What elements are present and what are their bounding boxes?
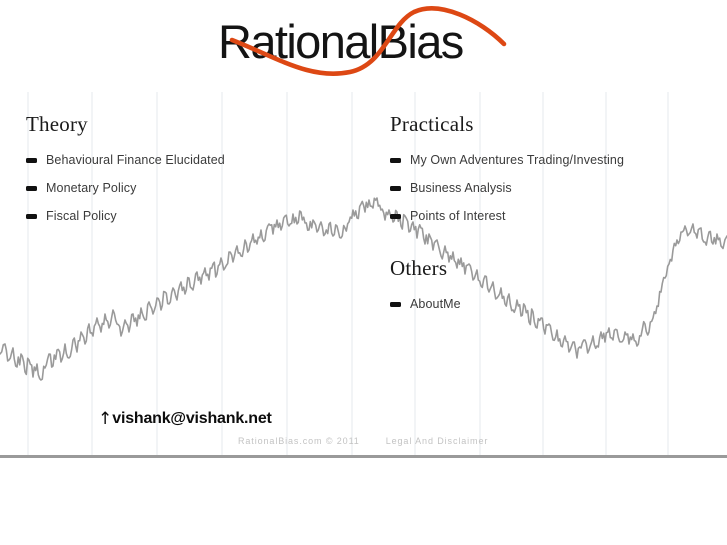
menu-item-my-own-adventures-trading-investing[interactable]: My Own Adventures Trading/Investing xyxy=(390,146,710,174)
menu-item-label: Monetary Policy xyxy=(46,181,136,195)
site-header: RationalBias xyxy=(0,0,727,92)
menu-list-others: AboutMe xyxy=(390,290,710,318)
dash-bullet-icon xyxy=(390,214,401,219)
menu-item-label: AboutMe xyxy=(410,297,461,311)
site-footer: RationalBias.com © 2011 Legal And Discla… xyxy=(0,436,727,456)
menu-item-points-of-interest[interactable]: Points of Interest xyxy=(390,202,710,230)
menu-item-label: Behavioural Finance Elucidated xyxy=(46,153,225,167)
dash-bullet-icon xyxy=(390,186,401,191)
menu-item-label: Business Analysis xyxy=(410,181,512,195)
arrow-up-icon: ↑ xyxy=(98,411,112,428)
section-title-others: Others xyxy=(390,256,710,280)
dash-bullet-icon xyxy=(26,186,37,191)
section-title-theory: Theory xyxy=(26,112,356,136)
section-title-practicals: Practicals xyxy=(390,112,710,136)
menu-item-business-analysis[interactable]: Business Analysis xyxy=(390,174,710,202)
email-address: vishank@vishank.net xyxy=(112,410,271,428)
menu-item-behavioural-finance-elucidated[interactable]: Behavioural Finance Elucidated xyxy=(26,146,356,174)
menu-list-theory: Behavioural Finance Elucidated Monetary … xyxy=(26,146,356,230)
dash-bullet-icon xyxy=(390,302,401,307)
footer-divider-rule xyxy=(0,455,727,458)
logo-wordmark: RationalBias xyxy=(218,6,510,78)
menu-section-theory: Theory Behavioural Finance Elucidated Mo… xyxy=(26,112,356,230)
menu-item-label: Points of Interest xyxy=(410,209,506,223)
dash-bullet-icon xyxy=(26,158,37,163)
footer-copyright: RationalBias.com © 2011 xyxy=(238,436,360,446)
email-contact-link[interactable]: ↑ vishank@vishank.net xyxy=(98,410,272,428)
menu-section-practicals: Practicals My Own Adventures Trading/Inv… xyxy=(390,112,710,230)
menu-list-practicals: My Own Adventures Trading/Investing Busi… xyxy=(390,146,710,230)
main-navigation: Theory Behavioural Finance Elucidated Mo… xyxy=(0,92,727,456)
site-logo[interactable]: RationalBias xyxy=(218,6,510,78)
dash-bullet-icon xyxy=(390,158,401,163)
page-bottom-whitespace xyxy=(0,458,727,545)
menu-item-fiscal-policy[interactable]: Fiscal Policy xyxy=(26,202,356,230)
menu-item-label: Fiscal Policy xyxy=(46,209,117,223)
menu-section-others: Others AboutMe xyxy=(390,256,710,318)
menu-item-label: My Own Adventures Trading/Investing xyxy=(410,153,624,167)
footer-legal-link[interactable]: Legal And Disclaimer xyxy=(386,436,489,446)
dash-bullet-icon xyxy=(26,214,37,219)
footer-inner: RationalBias.com © 2011 Legal And Discla… xyxy=(238,436,488,446)
menu-item-monetary-policy[interactable]: Monetary Policy xyxy=(26,174,356,202)
menu-item-about-me[interactable]: AboutMe xyxy=(390,290,710,318)
